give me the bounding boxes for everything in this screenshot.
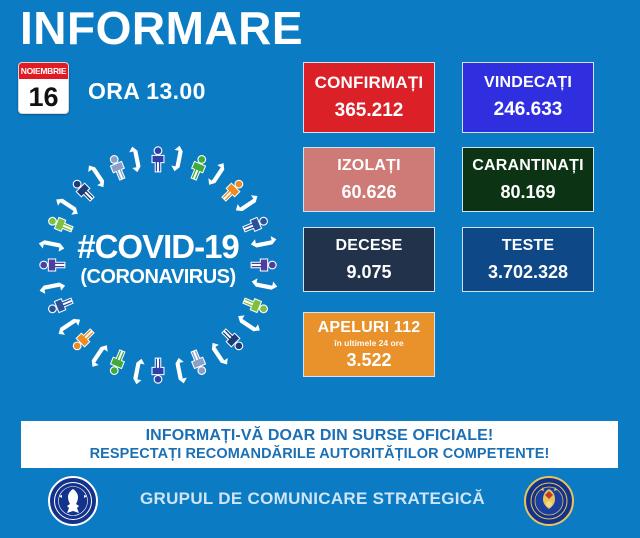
stat-label: IZOLAȚI xyxy=(337,157,401,175)
stat-label: CARANTINAȚI xyxy=(472,157,584,175)
person-figure-icon xyxy=(107,349,128,377)
person-figure-icon xyxy=(40,259,65,271)
person-figure-icon xyxy=(70,327,96,353)
stat-value: 80.169 xyxy=(500,182,555,203)
stat-label: DECESE xyxy=(336,237,403,255)
double-arrow-icon xyxy=(128,146,141,173)
advisory-line-1: INFORMAȚI-VĂ DOAR DIN SURSE OFICIALE! xyxy=(146,426,494,445)
double-arrow-icon xyxy=(206,161,227,187)
person-figure-icon xyxy=(188,154,209,182)
seal-emblem-left xyxy=(50,478,96,524)
double-arrow-icon xyxy=(236,313,262,334)
stat-box-teste: TESTE 3.702.328 xyxy=(462,227,594,292)
stat-box-decese: DECESE 9.075 xyxy=(303,227,435,292)
double-arrow-icon xyxy=(89,343,110,369)
calendar-icon: NOIEMBRIE 16 xyxy=(18,62,69,114)
stat-box-apeluri-112: APELURI 112 în ultimele 24 ore 3.522 xyxy=(303,312,435,377)
stat-label: APELURI 112 xyxy=(318,319,421,337)
covid-circle-graphic: #COVID-19 (CORONAVIRUS) xyxy=(22,133,294,398)
stat-box-vindecati: VINDECAȚI 246.633 xyxy=(462,62,594,133)
double-arrow-icon xyxy=(250,235,277,248)
stat-value: 9.075 xyxy=(346,262,391,283)
footer-title: GRUPUL DE COMUNICARE STRATEGICĂ xyxy=(140,489,485,509)
page-title: INFORMARE xyxy=(20,2,303,54)
double-arrow-icon xyxy=(39,282,66,295)
double-arrow-icon xyxy=(85,163,106,189)
advisory-banner: INFORMAȚI-VĂ DOAR DIN SURSE OFICIALE! RE… xyxy=(21,421,618,468)
person-figure-icon xyxy=(220,177,246,203)
double-arrow-icon xyxy=(209,341,230,367)
person-figure-icon xyxy=(220,327,246,353)
person-figure-icon xyxy=(242,295,270,316)
double-arrow-icon xyxy=(234,192,260,213)
person-figure-icon xyxy=(47,214,75,235)
ministerul-afacerilor-interne-seal-icon xyxy=(524,476,574,526)
stat-box-carantinati: CARANTINAȚI 80.169 xyxy=(462,147,594,212)
stat-note: în ultimele 24 ore xyxy=(334,338,403,348)
double-arrow-icon xyxy=(56,316,82,337)
seal-emblem-right xyxy=(526,478,572,524)
person-figure-icon xyxy=(152,147,164,172)
person-figure-icon xyxy=(152,358,164,383)
double-arrow-icon xyxy=(170,145,183,172)
stat-box-izolati: IZOLAȚI 60.626 xyxy=(303,147,435,212)
people-circle-svg xyxy=(22,133,294,398)
person-figure-icon xyxy=(188,349,209,377)
stat-value: 365.212 xyxy=(335,100,404,122)
stat-box-confirmati: CONFIRMAȚI 365.212 xyxy=(303,62,435,133)
stat-value: 3.522 xyxy=(346,350,391,371)
person-figure-icon xyxy=(47,295,75,316)
stat-value: 3.702.328 xyxy=(488,262,568,283)
calendar-day: 16 xyxy=(19,79,68,114)
stat-label: VINDECAȚI xyxy=(484,74,572,92)
stat-label: CONFIRMAȚI xyxy=(315,73,424,93)
calendar-month: NOIEMBRIE xyxy=(19,63,68,79)
guvernul-romaniei-seal-icon xyxy=(48,476,98,526)
double-arrow-icon xyxy=(175,357,188,384)
stat-value: 60.626 xyxy=(341,182,396,203)
advisory-line-2: RESPECTAȚI RECOMANDĂRILE AUTORITĂȚILOR C… xyxy=(90,445,550,463)
double-arrow-icon xyxy=(38,239,65,252)
double-arrow-icon xyxy=(251,277,278,290)
double-arrow-icon xyxy=(132,358,145,385)
person-figure-icon xyxy=(70,177,96,203)
stat-label: TESTE xyxy=(502,237,555,255)
informare-poster: INFORMARE NOIEMBRIE 16 ORA 13.00 #COVID-… xyxy=(0,0,640,538)
person-figure-icon xyxy=(107,154,128,182)
stat-value: 246.633 xyxy=(494,99,563,121)
person-figure-icon xyxy=(242,214,270,235)
report-hour: ORA 13.00 xyxy=(88,78,206,105)
double-arrow-icon xyxy=(54,196,80,217)
person-figure-icon xyxy=(251,259,276,271)
